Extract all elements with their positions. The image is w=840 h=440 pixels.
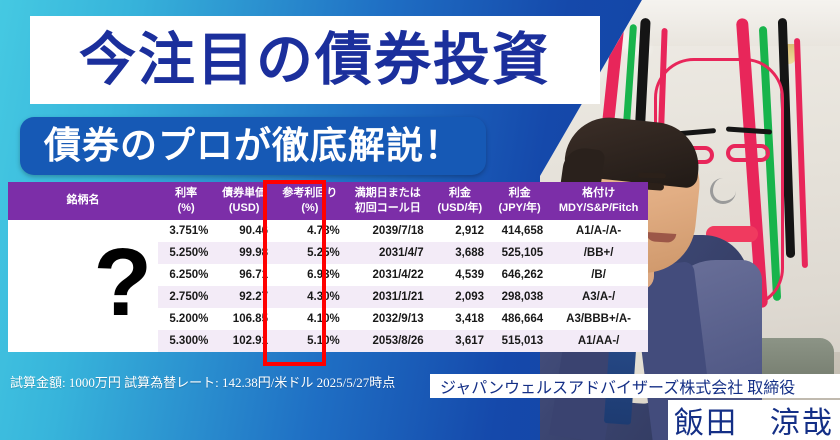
col-header-maturity: 満期日または 初回コール日 — [346, 182, 430, 220]
cell-interest-jpy: 515,013 — [490, 330, 549, 352]
cell-interest-usd: 2,912 — [430, 220, 490, 242]
cell-interest-usd: 3,617 — [430, 330, 490, 352]
cell-coupon: 5.200% — [158, 308, 214, 330]
cell-coupon: 5.250% — [158, 242, 214, 264]
cell-rating: A3/BBB+/A- — [549, 308, 648, 330]
cell-interest-usd: 3,418 — [430, 308, 490, 330]
speaker-company-banner: ジャパンウェルスアドバイザーズ株式会社 取締役 — [430, 374, 840, 398]
cell-maturity: 2031/1/21 — [346, 286, 430, 308]
cell-rating: A1/A-/A- — [549, 220, 648, 242]
cell-maturity: 2032/9/13 — [346, 308, 430, 330]
speaker-name: 飯田 涼哉 — [674, 398, 834, 440]
cell-rating: /B/ — [549, 264, 648, 286]
page-title: 今注目の債券投資 — [79, 32, 551, 89]
col-header-price: 債券単価 (USD) — [214, 182, 274, 220]
cell-price: 106.85 — [214, 308, 274, 330]
cell-yield: 5.25% — [274, 242, 346, 264]
col-header-interest-jpy: 利金 (JPY/年) — [490, 182, 549, 220]
cell-maturity: 2031/4/7 — [346, 242, 430, 264]
cell-maturity: 2031/4/22 — [346, 264, 430, 286]
cell-price: 90.46 — [214, 220, 274, 242]
cell-yield: 4.10% — [274, 308, 346, 330]
cell-maturity: 2053/8/26 — [346, 330, 430, 352]
cell-price: 96.71 — [214, 264, 274, 286]
cell-coupon: 2.750% — [158, 286, 214, 308]
speaker-company-role: ジャパンウェルスアドバイザーズ株式会社 取締役 — [430, 374, 795, 398]
bond-comparison-table: 銘柄名 利率 (%) 債券単価 (USD) 参考利回り (%) 満期日または 初… — [8, 182, 648, 352]
cell-interest-jpy: 525,105 — [490, 242, 549, 264]
cell-interest-usd: 4,539 — [430, 264, 490, 286]
cell-yield: 4.30% — [274, 286, 346, 308]
cell-yield: 4.78% — [274, 220, 346, 242]
cell-yield: 5.10% — [274, 330, 346, 352]
cell-interest-jpy: 646,262 — [490, 264, 549, 286]
col-header-interest-usd: 利金 (USD/年) — [430, 182, 490, 220]
col-header-issue-name: 銘柄名 — [8, 182, 158, 220]
speaker-name-banner: 飯田 涼哉 — [668, 400, 840, 440]
cell-coupon: 3.751% — [158, 220, 214, 242]
table-row: ?3.751%90.464.78%2039/7/182,912414,658A1… — [8, 220, 648, 242]
calculation-footnote: 試算金額: 1000万円 試算為替レート: 142.38円/米ドル 2025/5… — [10, 372, 395, 391]
cell-price: 92.27 — [214, 286, 274, 308]
col-header-rating: 格付け MDY/S&P/Fitch — [549, 182, 648, 220]
cell-interest-usd: 3,688 — [430, 242, 490, 264]
issue-name-placeholder-cell: ? — [8, 220, 158, 352]
page-subtitle: 債券のプロが徹底解説！ — [44, 128, 462, 165]
cell-rating: A1/AA-/ — [549, 330, 648, 352]
cell-interest-usd: 2,093 — [430, 286, 490, 308]
cell-price: 99.98 — [214, 242, 274, 264]
cell-interest-jpy: 414,658 — [490, 220, 549, 242]
cell-coupon: 5.300% — [158, 330, 214, 352]
cell-coupon: 6.250% — [158, 264, 214, 286]
cell-maturity: 2039/7/18 — [346, 220, 430, 242]
cell-rating: A3/A-/ — [549, 286, 648, 308]
cell-interest-jpy: 486,664 — [490, 308, 549, 330]
cell-interest-jpy: 298,038 — [490, 286, 549, 308]
table-header-row: 銘柄名 利率 (%) 債券単価 (USD) 参考利回り (%) 満期日または 初… — [8, 182, 648, 220]
cell-rating: /BB+/ — [549, 242, 648, 264]
cell-yield: 6.93% — [274, 264, 346, 286]
col-header-yield: 参考利回り (%) — [274, 182, 346, 220]
question-mark-icon: ? — [14, 244, 152, 323]
headline-banner: 今注目の債券投資 — [30, 16, 600, 104]
cell-price: 102.91 — [214, 330, 274, 352]
subtitle-banner: 債券のプロが徹底解説！ — [20, 117, 486, 175]
col-header-coupon: 利率 (%) — [158, 182, 214, 220]
